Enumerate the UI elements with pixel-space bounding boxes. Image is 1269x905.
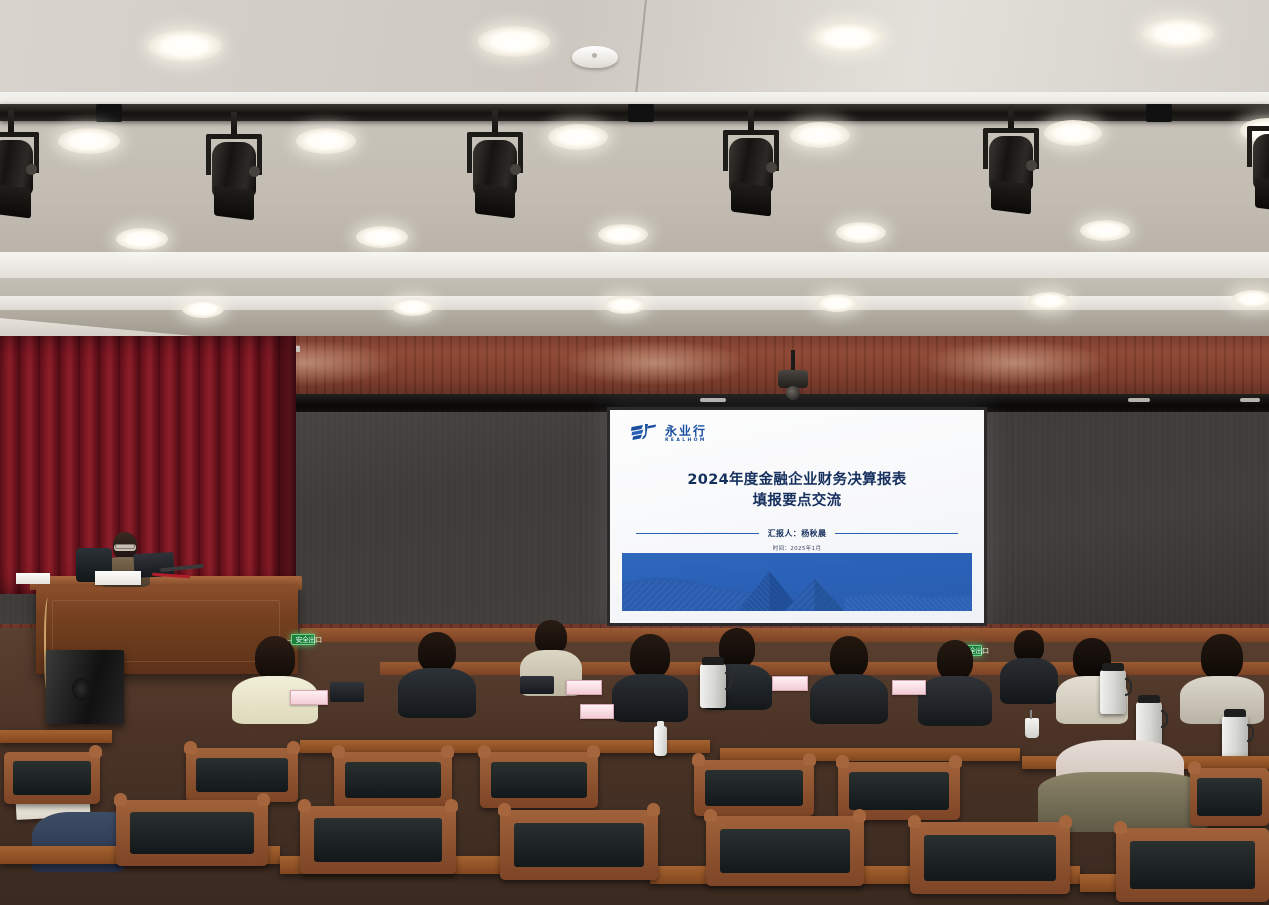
- spotlight-yoke: [231, 112, 237, 134]
- spotlight-barndoor: [214, 186, 254, 221]
- chair-backrest: [196, 758, 288, 793]
- truss-node: [628, 104, 654, 122]
- spotlight-barndoor: [991, 180, 1031, 215]
- auditorium-chair[interactable]: [116, 800, 268, 866]
- straw-icon: [1030, 710, 1032, 719]
- glasses-icon: [115, 544, 135, 549]
- audience-head: [535, 620, 567, 654]
- audience-member: [918, 640, 992, 724]
- chair-backrest: [849, 772, 949, 809]
- audience-body: [612, 674, 688, 722]
- audience-head: [630, 634, 670, 678]
- audience-member: [232, 636, 318, 722]
- recessed-downlight: [598, 224, 648, 245]
- logo-english-name: REALHOM: [665, 439, 707, 444]
- bottle-cap: [657, 721, 664, 727]
- chair-knob: [498, 803, 511, 816]
- stage-spotlight: [205, 130, 263, 230]
- recessed-downlight: [116, 228, 168, 250]
- recessed-downlight: [812, 22, 884, 53]
- chair-knob: [1188, 761, 1201, 774]
- chair-backrest: [720, 829, 850, 874]
- spotlight-bracket: [467, 133, 472, 173]
- stage-spotlight: [722, 126, 780, 226]
- presenter-row: 汇报人：杨秋晨: [636, 528, 958, 539]
- chair-backrest: [1130, 841, 1255, 888]
- recessed-downlight: [604, 296, 646, 314]
- audience-head: [937, 640, 973, 680]
- spotlight-yoke: [748, 108, 754, 130]
- name-placard: [580, 704, 614, 719]
- ceiling-white-band: [0, 252, 1269, 278]
- slide-date: 时间：2025年1月: [610, 544, 984, 552]
- thermos-flask: [700, 664, 726, 708]
- auditorium-chair[interactable]: [706, 816, 864, 886]
- audience-member: [398, 632, 476, 716]
- chair-backrest: [314, 818, 442, 862]
- chair-knob: [949, 755, 962, 768]
- chair-knob: [853, 809, 866, 822]
- chair-knob: [287, 741, 300, 754]
- chair-knob: [803, 753, 816, 766]
- spotlight-barndoor: [475, 184, 515, 219]
- chair-backrest: [13, 761, 92, 794]
- stage-spotlight: [466, 128, 524, 228]
- recessed-downlight: [296, 128, 356, 154]
- chair-knob: [114, 793, 127, 806]
- stage-spotlight: [982, 124, 1040, 224]
- slide-title-line2: 填报要点交流: [610, 491, 984, 512]
- recessed-downlight: [392, 298, 434, 316]
- ceiling: [0, 0, 1269, 340]
- water-bottle: [654, 726, 667, 756]
- chair-knob: [647, 803, 660, 816]
- slide-graphic-band: [622, 553, 972, 611]
- chair-backrest: [514, 823, 644, 868]
- drink-cup: [1025, 718, 1039, 738]
- chair-knob: [478, 745, 491, 758]
- recessed-downlight: [836, 222, 886, 243]
- recessed-downlight: [356, 226, 408, 248]
- chair-knob: [89, 745, 102, 758]
- auditorium-chair[interactable]: [334, 752, 452, 808]
- truss-node: [1146, 104, 1172, 122]
- auditorium-chair[interactable]: [480, 752, 598, 808]
- audience-member: [612, 634, 688, 720]
- chair-backrest: [924, 835, 1055, 881]
- recessed-downlight: [790, 122, 850, 148]
- laptop: [520, 676, 554, 694]
- recessed-downlight: [816, 294, 858, 312]
- spotlight-yoke: [492, 110, 498, 132]
- laptop-screen: [520, 676, 554, 694]
- thermos-flask: [1100, 670, 1126, 714]
- thermos-flask: [1222, 716, 1248, 760]
- spotlight-bracket: [723, 131, 728, 171]
- audience-body: [918, 676, 992, 726]
- recessed-downlight: [1028, 292, 1070, 310]
- spotlight-arm: [723, 130, 779, 135]
- chair-knob: [1114, 821, 1127, 834]
- recessed-downlight: [548, 124, 608, 150]
- chair-knob: [692, 753, 705, 766]
- smoke-detector-indicator: [592, 53, 597, 58]
- slide-title-line1: 2024年度金融企业财务决算报表: [687, 472, 906, 488]
- audience-member: [1180, 634, 1264, 722]
- spotlight-yoke: [8, 110, 14, 132]
- recessed-downlight: [1044, 120, 1102, 146]
- auditorium-chair[interactable]: [4, 752, 100, 804]
- wall-light-glow: [920, 340, 1110, 386]
- auditorium-chair[interactable]: [1190, 768, 1269, 826]
- chair-knob: [908, 815, 921, 828]
- slide-title: 2024年度金融企业财务决算报表 填报要点交流: [610, 470, 984, 511]
- realhom-logo-icon: [630, 423, 660, 443]
- recessed-downlight: [58, 128, 120, 154]
- presenter-name: 汇报人：杨秋晨: [768, 528, 827, 539]
- spotlight-knob: [766, 162, 777, 173]
- recessed-downlight: [148, 30, 222, 62]
- recessed-downlight: [1080, 220, 1130, 241]
- auditorium-chair[interactable]: [1116, 828, 1269, 902]
- audience-body: [398, 668, 476, 718]
- thermos-lid: [702, 657, 724, 665]
- audience-head: [719, 628, 755, 668]
- chair-backrest: [1197, 778, 1262, 815]
- chair-knob: [332, 745, 345, 758]
- recessed-downlight: [182, 300, 224, 318]
- spotlight-knob: [1026, 160, 1037, 171]
- thermos-lid: [1102, 663, 1124, 671]
- conference-hall-scene: 永业行 REALHOM 2024年度金融企业财务决算报表 填报要点交流 汇报人：…: [0, 0, 1269, 905]
- audience-member: [810, 636, 888, 722]
- spotlight-arm: [206, 134, 262, 139]
- floor-speaker: [46, 650, 124, 724]
- chair-knob: [587, 745, 600, 758]
- chair-knob: [445, 799, 458, 812]
- spotlight-knob: [249, 166, 260, 177]
- logo-text: 永业行 REALHOM: [665, 425, 707, 444]
- auditorium-chair[interactable]: [910, 822, 1070, 894]
- laptop-screen: [330, 682, 364, 702]
- presenter-rule-left: [636, 533, 759, 535]
- spotlight-barndoor: [731, 182, 771, 217]
- audience-member: [1000, 630, 1058, 702]
- ceiling-lower-panel: [0, 278, 1269, 298]
- projector-mount-rod: [791, 350, 795, 370]
- name-placard: [772, 676, 808, 691]
- spotlight-bracket: [1247, 127, 1252, 167]
- presentation-slide: 永业行 REALHOM 2024年度金融企业财务决算报表 填报要点交流 汇报人：…: [610, 410, 984, 623]
- spotlight-knob: [26, 164, 37, 175]
- ceiling-projector: [778, 368, 808, 402]
- chair-knob: [257, 793, 270, 806]
- audience-head: [830, 636, 868, 678]
- name-placard: [16, 573, 50, 584]
- audience-head: [1201, 634, 1243, 680]
- logo-chinese-name: 永业行: [665, 425, 707, 437]
- name-placard: [892, 680, 926, 695]
- projector-lens-icon: [786, 386, 800, 400]
- presenter-rule-right: [835, 533, 958, 535]
- recessed-downlight: [1232, 290, 1269, 308]
- spotlight-arm: [983, 128, 1039, 133]
- chair-knob: [184, 741, 197, 754]
- spotlight-knob: [510, 164, 521, 175]
- company-logo: 永业行 REALHOM: [630, 423, 707, 443]
- chair-knob: [1059, 815, 1072, 828]
- auditorium-chair[interactable]: [300, 806, 456, 874]
- stage-spotlight: [1246, 122, 1269, 222]
- spotlight-arm: [467, 132, 523, 137]
- audience-head: [418, 632, 456, 672]
- chair-backrest: [705, 770, 803, 806]
- auditorium-desk: [0, 730, 112, 743]
- stage-spotlight: [0, 128, 40, 228]
- spotlight-barndoor: [0, 184, 31, 219]
- name-placard: [566, 680, 602, 695]
- audience-head: [255, 636, 295, 680]
- chair-knob: [704, 809, 717, 822]
- band-highlight: [1128, 398, 1150, 402]
- wall-light-glow: [560, 340, 750, 386]
- smoke-detector-icon: [572, 46, 618, 68]
- chair-backrest: [345, 762, 442, 798]
- building-skyline-graphic: [622, 553, 972, 611]
- thermos-lid: [1224, 709, 1246, 717]
- chair-knob: [441, 745, 454, 758]
- auditorium-chair[interactable]: [500, 810, 658, 880]
- laptop: [330, 682, 364, 702]
- recessed-downlight: [1142, 18, 1214, 49]
- band-highlight: [700, 398, 726, 402]
- chair-backrest: [130, 812, 255, 854]
- spotlight-bracket: [206, 135, 211, 175]
- chair-knob: [298, 799, 311, 812]
- name-placard: [290, 690, 328, 705]
- truss-node: [96, 104, 122, 122]
- audience-body: [1000, 658, 1058, 704]
- audience-body: [810, 674, 888, 724]
- thermos-lid: [1138, 695, 1160, 703]
- chair-knob: [836, 755, 849, 768]
- chair-backrest: [491, 762, 588, 798]
- spotlight-yoke: [1008, 106, 1014, 128]
- auditorium-chair[interactable]: [186, 748, 298, 802]
- band-highlight: [1240, 398, 1260, 402]
- speaker-cone-icon: [72, 678, 90, 700]
- projection-screen: 永业行 REALHOM 2024年度金融企业财务决算报表 填报要点交流 汇报人：…: [607, 407, 987, 626]
- auditorium-chair[interactable]: [694, 760, 814, 816]
- spotlight-bracket: [983, 129, 988, 169]
- spotlight-barndoor: [1255, 178, 1269, 213]
- recessed-downlight: [478, 26, 550, 57]
- name-placard: [95, 571, 141, 585]
